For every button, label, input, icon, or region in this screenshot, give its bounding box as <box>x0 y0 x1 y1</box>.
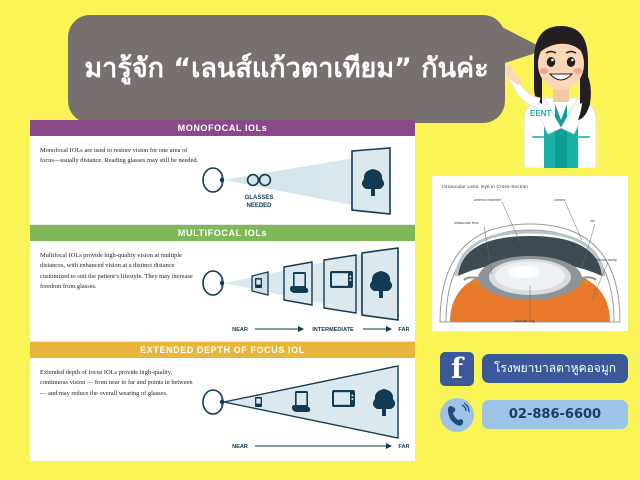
eye-card-title: Intraocular Lens: Eye in Cross-Section <box>442 184 528 189</box>
range-label-near: NEAR <box>232 327 248 333</box>
eye-label-intraocular-lens: intraocular lens <box>454 221 478 225</box>
eye-icon <box>203 271 224 295</box>
label-glasses-line2: NEEDED <box>246 203 272 209</box>
diagram-edof: NEAR FAR <box>200 358 415 461</box>
section-header-multifocal: MULTIFOCAL IOLs <box>30 225 415 241</box>
section-text-multifocal: Multifocal IOLs provide high-quality vis… <box>40 251 200 293</box>
eye-icon <box>203 168 224 192</box>
section-header-edof: EXTENDED DEPTH OF FOCUS IOL <box>30 342 415 358</box>
section-header-monofocal: MONOFOCAL IOLs <box>30 120 415 136</box>
facebook-f-glyph: f <box>440 352 474 386</box>
facebook-icon[interactable]: f <box>440 352 474 386</box>
section-text-edof: Extended depth of focus IOLs provide hig… <box>40 368 200 399</box>
phone-icon <box>255 397 262 407</box>
coat-label: EENT <box>530 109 551 118</box>
range-label-far: FAR <box>398 327 409 333</box>
phone-icon <box>255 278 262 288</box>
range-label-near: NEAR <box>232 444 248 450</box>
phone-number[interactable]: 02-886-6600 <box>482 400 628 429</box>
doctor-illustration: EENT <box>500 8 622 168</box>
eye-label-vitreous-cavity: vitreous cavity <box>594 258 617 262</box>
diagram-multifocal: NEAR INTERMEDIATE FAR <box>200 241 415 341</box>
tv-icon <box>332 390 355 407</box>
tv-icon <box>330 271 353 288</box>
speech-bubble: มารู้จัก “เลนส์แก้วตาเทียม” กันค่ะ <box>68 15 505 123</box>
header-area: มารู้จัก “เลนส์แก้วตาเทียม” กันค่ะ <box>0 0 640 122</box>
section-body-edof: Extended depth of focus IOLs provide hig… <box>30 358 415 461</box>
eye-cross-section-diagram <box>432 176 628 331</box>
page-title: มารู้จัก “เลนส์แก้วตาเทียม” กันค่ะ <box>84 52 488 86</box>
range-label-intermediate: INTERMEDIATE <box>312 327 354 333</box>
range-label-far: FAR <box>398 444 409 450</box>
eye-cross-section-card: Intraocular Lens: Eye in Cross-Section a… <box>432 176 628 331</box>
eye-label-anterior-chamber: anterior chamber <box>474 198 501 202</box>
label-glasses-line1: GLASSES <box>245 195 274 201</box>
section-body-monofocal: Monofocal IOLs are used to restore visio… <box>30 136 415 224</box>
section-text-monofocal: Monofocal IOLs are used to restore visio… <box>40 146 200 167</box>
section-body-multifocal: Multifocal IOLs provide high-quality vis… <box>30 241 415 341</box>
eye-label-cornea: cornea <box>554 198 565 202</box>
eye-label-iris: iris <box>590 219 595 223</box>
iol-infographic-panel: MONOFOCAL IOLs Monofocal IOLs are used t… <box>30 120 415 446</box>
facebook-page-name[interactable]: โรงพยาบาลตาหูคอจมูก <box>482 354 628 383</box>
eye-icon <box>203 390 224 414</box>
phone-ringing-icon[interactable] <box>440 398 474 432</box>
eye-label-capsular-bag: capsular bag <box>514 319 535 323</box>
diagram-monofocal: GLASSES NEEDED <box>200 136 415 224</box>
